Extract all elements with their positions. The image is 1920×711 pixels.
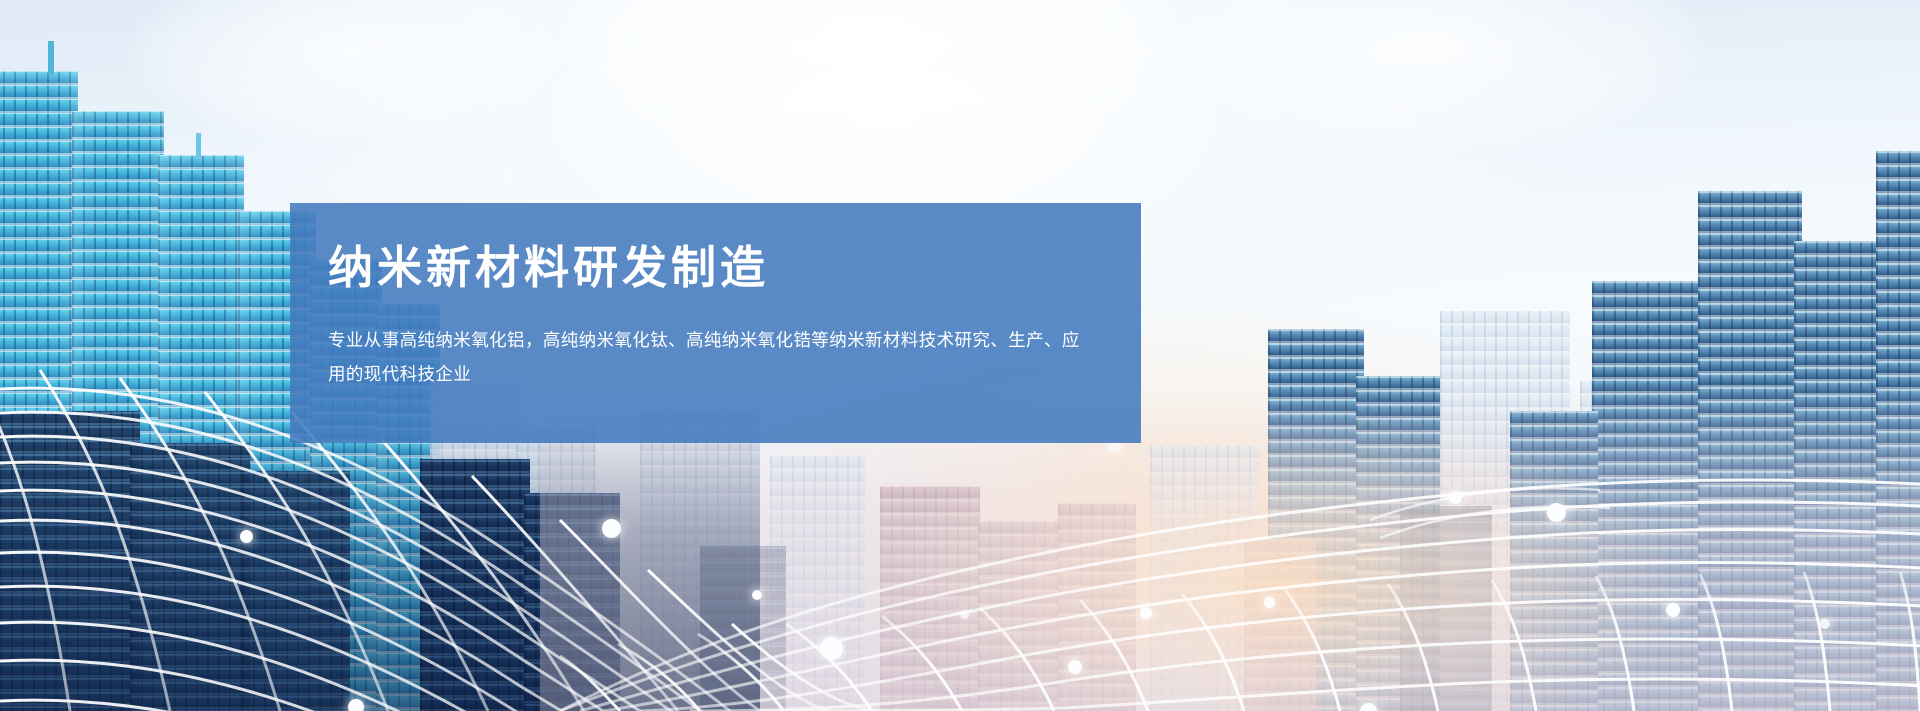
building-silhouette bbox=[524, 493, 620, 711]
page-subtitle: 专业从事高纯纳米氧化铝，高纯纳米氧化钛、高纯纳米氧化锆等纳米新材料技术研究、生产… bbox=[328, 323, 1097, 391]
building-silhouette bbox=[1244, 539, 1316, 711]
building-silhouette bbox=[880, 486, 980, 711]
building-silhouette bbox=[1058, 503, 1136, 711]
building-silhouette bbox=[700, 546, 786, 711]
hero-banner: 纳米新材料研发制造 专业从事高纯纳米氧化铝，高纯纳米氧化钛、高纯纳米氧化锆等纳米… bbox=[0, 0, 1920, 711]
building-silhouette bbox=[1510, 411, 1598, 711]
building-silhouette bbox=[1400, 506, 1492, 711]
building-silhouette bbox=[978, 521, 1064, 711]
building-silhouette bbox=[1698, 191, 1802, 711]
building-silhouette bbox=[0, 411, 140, 711]
building-silhouette bbox=[1876, 151, 1920, 711]
hero-text-panel: 纳米新材料研发制造 专业从事高纯纳米氧化铝，高纯纳米氧化钛、高纯纳米氧化锆等纳米… bbox=[290, 203, 1141, 443]
building-silhouette bbox=[242, 471, 350, 711]
building-silhouette bbox=[130, 443, 250, 711]
building-silhouette bbox=[420, 459, 530, 711]
building-mast bbox=[196, 133, 201, 159]
building-mast bbox=[48, 41, 54, 75]
hero-text-inner: 纳米新材料研发制造 专业从事高纯纳米氧化铝，高纯纳米氧化钛、高纯纳米氧化锆等纳米… bbox=[290, 203, 1141, 391]
page-title: 纳米新材料研发制造 bbox=[328, 243, 1097, 293]
building-silhouette bbox=[1592, 281, 1704, 711]
